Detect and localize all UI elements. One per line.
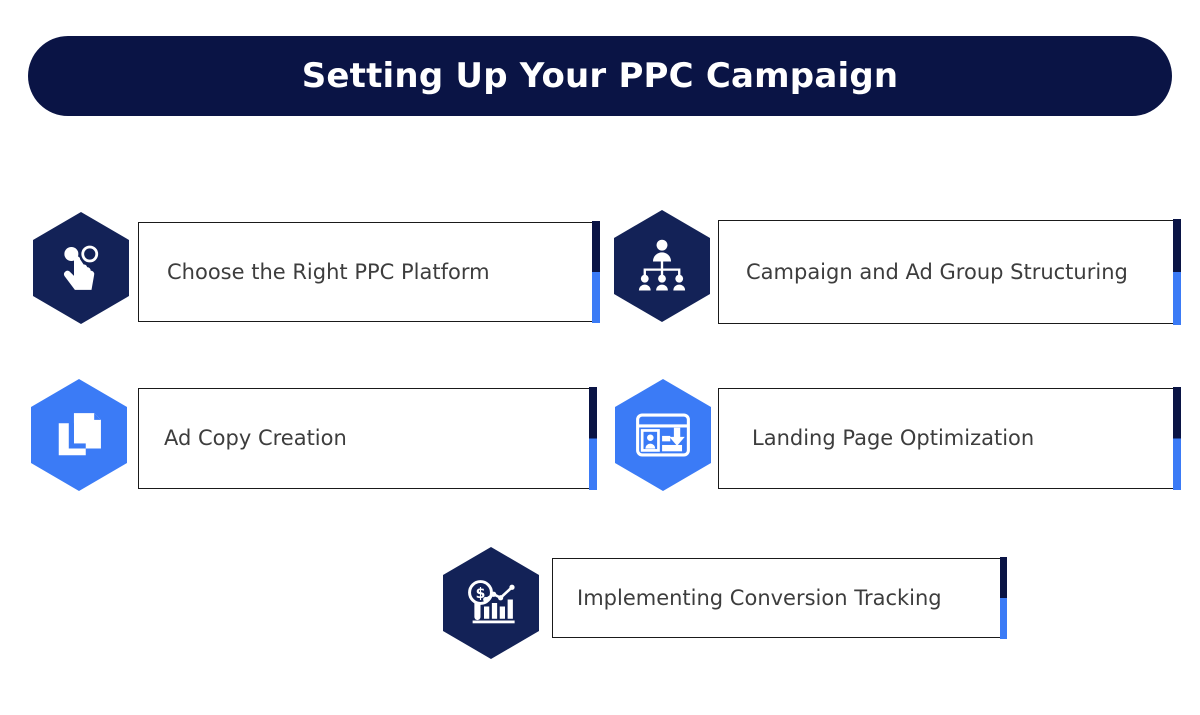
card-accent-bar <box>589 387 597 489</box>
card-accent-bar <box>1000 557 1007 638</box>
header-banner: Setting Up Your PPC Campaign <box>28 36 1172 116</box>
card-accent-bar <box>1173 219 1181 324</box>
click-hand-icon <box>33 212 129 324</box>
org-chart-people-icon <box>614 210 710 322</box>
landing-page-download-icon <box>615 379 711 491</box>
step-card-2[interactable]: Campaign and Ad Group Structuring <box>718 220 1174 324</box>
step-label-3: Ad Copy Creation <box>164 423 347 453</box>
step-label-2: Campaign and Ad Group Structuring <box>746 257 1128 287</box>
card-accent-bar <box>592 221 600 322</box>
step-label-5: Implementing Conversion Tracking <box>577 583 942 613</box>
dollar-magnifier-chart-icon: $ <box>443 547 539 659</box>
card-accent-bar <box>1173 387 1181 489</box>
step-card-3[interactable]: Ad Copy Creation <box>138 388 590 489</box>
step-card-1[interactable]: Choose the Right PPC Platform <box>138 222 593 322</box>
step-card-5[interactable]: Implementing Conversion Tracking <box>552 558 1002 638</box>
step-label-4: Landing Page Optimization <box>752 423 1034 453</box>
copy-documents-icon <box>31 379 127 491</box>
page-title: Setting Up Your PPC Campaign <box>302 56 899 96</box>
steps-container: Choose the Right PPC Platform Campaign a… <box>0 116 1200 715</box>
step-card-4[interactable]: Landing Page Optimization <box>718 388 1174 489</box>
step-label-1: Choose the Right PPC Platform <box>167 257 490 287</box>
